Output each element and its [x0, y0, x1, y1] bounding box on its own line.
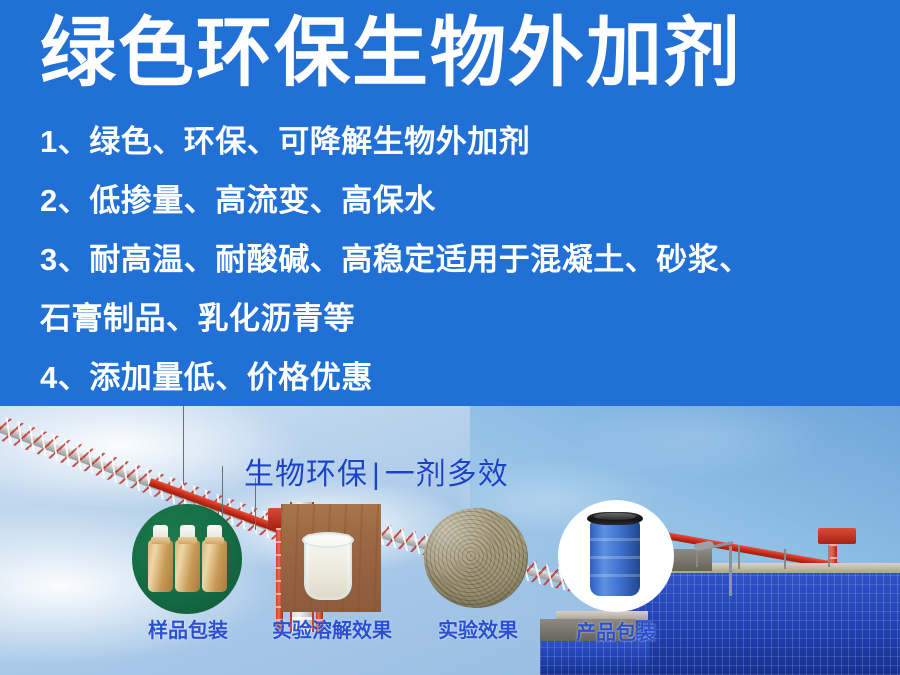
- feature-bullet-3-continued: 石膏制品、乳化沥青等: [40, 289, 890, 348]
- page-title: 绿色环保生物外加剂: [40, 8, 880, 100]
- mortar-sample-image: [418, 502, 536, 614]
- thumbnail-label: 实验效果: [418, 618, 538, 644]
- drum-rib-3: [590, 574, 640, 577]
- sample-bottles-image: [128, 502, 246, 614]
- thumbnail-label: 样品包装: [128, 618, 248, 644]
- feature-bullet-4: 4、添加量低、价格优惠: [40, 348, 890, 406]
- blue-drum-image: [556, 500, 674, 616]
- product-poster: 绿色环保生物外加剂 1、绿色、环保、可降解生物外加剂 2、低掺量、高流变、高保水…: [0, 0, 900, 675]
- caption-divider: |: [368, 456, 385, 494]
- thumbnail-dissolution-test[interactable]: 实验溶解效果: [272, 502, 392, 644]
- mortar-disc: [424, 508, 528, 608]
- caption-right-text: 一剂多效: [385, 458, 509, 491]
- feature-bullet-2: 2、低掺量、高流变、高保水: [40, 171, 890, 230]
- photo-caption: 生物环保|一剂多效: [244, 456, 509, 494]
- product-thumbnail-row: 样品包装 实验溶解效果 实验效果: [0, 502, 900, 672]
- thumbnail-sample-packaging[interactable]: 样品包装: [128, 502, 248, 644]
- dissolution-glass-image: [272, 502, 390, 614]
- feature-bullet-3: 3、耐高温、耐酸碱、高稳定适用于混凝土、砂浆、: [40, 230, 890, 289]
- drum-rib-2: [590, 556, 640, 559]
- blue-plastic-drum: [590, 518, 640, 596]
- caption-left-text: 生物环保: [244, 458, 368, 491]
- thumbnail-label: 实验溶解效果: [272, 618, 392, 644]
- blue-info-panel: 绿色环保生物外加剂 1、绿色、环保、可降解生物外加剂 2、低掺量、高流变、高保水…: [0, 0, 900, 406]
- glass-rim: [302, 532, 354, 548]
- drum-rib-1: [590, 538, 640, 541]
- sample-bottle-2: [175, 540, 200, 592]
- sample-bottle-1: [148, 540, 173, 592]
- drum-lid-inner: [594, 513, 636, 520]
- thumbnail-product-packaging[interactable]: 产品包装: [556, 500, 676, 646]
- sample-bottle-3: [202, 540, 227, 592]
- feature-bullet-1: 1、绿色、环保、可降解生物外加剂: [40, 112, 890, 171]
- feature-bullet-list: 1、绿色、环保、可降解生物外加剂 2、低掺量、高流变、高保水 3、耐高温、耐酸碱…: [40, 112, 890, 406]
- thumbnail-label: 产品包装: [556, 620, 676, 646]
- crane-hoist-cable-1: [183, 406, 184, 484]
- thumbnail-experiment-result[interactable]: 实验效果: [418, 502, 538, 644]
